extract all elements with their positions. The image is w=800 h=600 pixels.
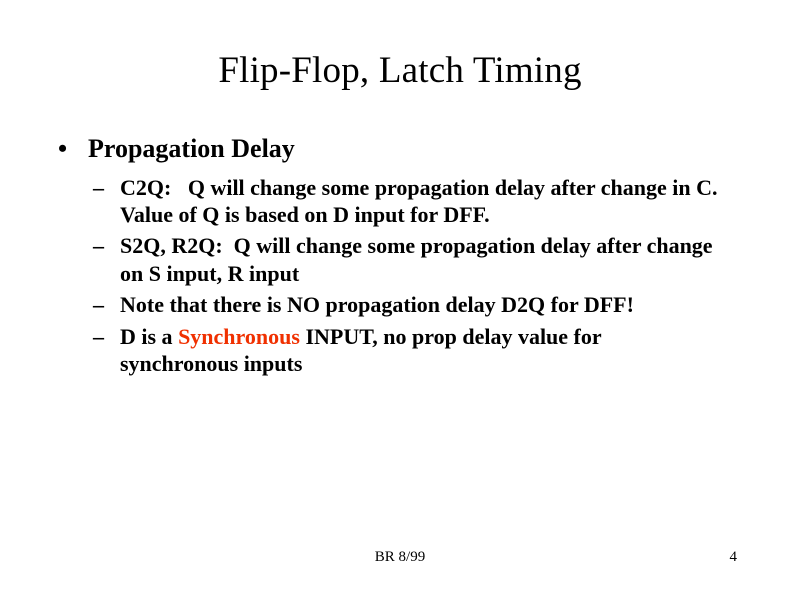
bullet-dash-icon: – bbox=[93, 174, 104, 201]
bullet-dash-icon: – bbox=[93, 323, 104, 350]
list-item: – Note that there is NO propagation dela… bbox=[93, 291, 720, 318]
list-item-text-before: Note that there is NO propagation delay … bbox=[120, 292, 634, 317]
bullet-level1-label: Propagation Delay bbox=[88, 134, 295, 163]
list-item-text: D is a Synchronous INPUT, no prop delay … bbox=[120, 323, 720, 378]
bullet-level2-list: – C2Q: Q will change some propagation de… bbox=[52, 174, 752, 378]
list-item-text: C2Q: Q will change some propagation dela… bbox=[120, 174, 720, 229]
bullet-dash-icon: – bbox=[93, 232, 104, 259]
list-item-text: S2Q, R2Q: Q will change some propagation… bbox=[120, 232, 720, 287]
list-item-text-before: C2Q: Q will change some propagation dela… bbox=[120, 175, 728, 227]
list-item-text-highlight: Synchronous bbox=[178, 324, 300, 349]
slide-canvas: Flip-Flop, Latch Timing • Propagation De… bbox=[0, 0, 800, 600]
page-number: 4 bbox=[0, 549, 737, 566]
list-item: – S2Q, R2Q: Q will change some propagati… bbox=[93, 232, 720, 287]
page-title: Flip-Flop, Latch Timing bbox=[0, 51, 800, 92]
list-item: – C2Q: Q will change some propagation de… bbox=[93, 174, 720, 229]
bullet-dot-icon: • bbox=[58, 134, 67, 165]
list-item-text-before: S2Q, R2Q: Q will change some propagation… bbox=[120, 233, 718, 285]
bullet-level1-propagation-delay: • Propagation Delay bbox=[52, 134, 752, 165]
bullet-dash-icon: – bbox=[93, 291, 104, 318]
list-item-text-before: D is a bbox=[120, 324, 178, 349]
list-item: – D is a Synchronous INPUT, no prop dela… bbox=[93, 323, 720, 378]
list-item-text: Note that there is NO propagation delay … bbox=[120, 291, 720, 318]
slide-body: • Propagation Delay – C2Q: Q will change… bbox=[52, 134, 752, 381]
